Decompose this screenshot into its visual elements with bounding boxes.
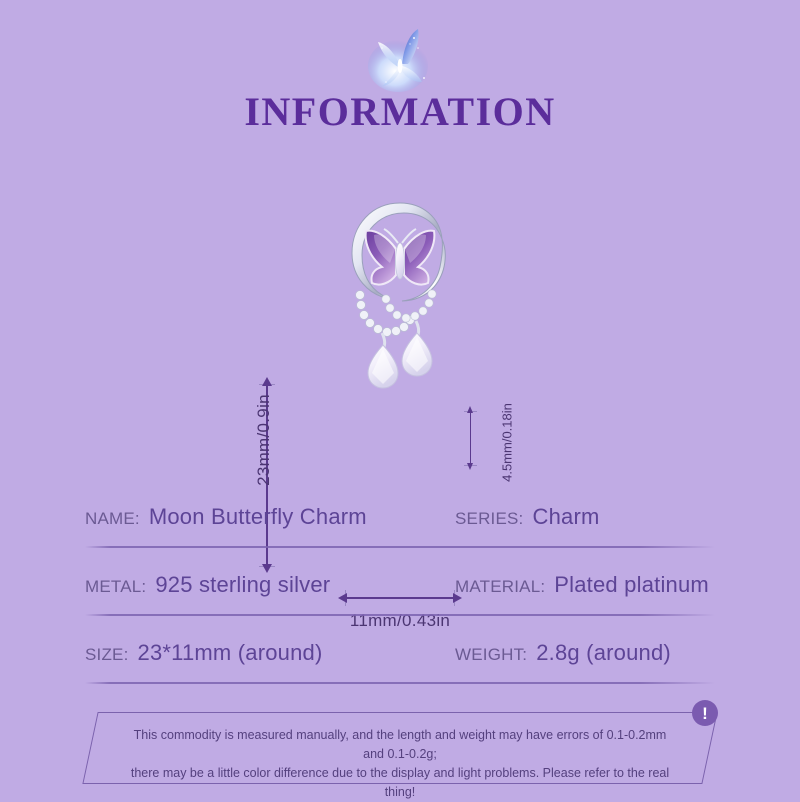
height-dimension-label: 23mm/0.9in	[254, 390, 274, 490]
spec-label: SERIES:	[455, 509, 523, 529]
information-page: INFORMATION	[0, 0, 800, 800]
specification-table: NAME: Moon Butterfly Charm SERIES: Charm…	[0, 498, 800, 702]
table-row: NAME: Moon Butterfly Charm SERIES: Charm	[0, 498, 800, 566]
spec-weight: WEIGHT: 2.8g (around)	[455, 640, 671, 666]
row-divider	[85, 546, 715, 548]
spec-label: SIZE:	[85, 645, 129, 665]
product-illustration-area: 23mm/0.9in 11mm/0.43in 4.5mm/0.18in	[0, 180, 800, 470]
moon-butterfly-charm-illustration	[330, 195, 470, 410]
spec-metal: METAL: 925 sterling silver	[85, 572, 330, 598]
spec-series: SERIES: Charm	[455, 504, 600, 530]
spec-label: NAME:	[85, 509, 140, 529]
thickness-dimension-arrow	[470, 412, 471, 464]
spec-value: 2.8g (around)	[536, 640, 671, 666]
exclamation-icon: !	[692, 700, 718, 726]
spec-value: 23*11mm (around)	[138, 640, 323, 666]
disclaimer-line-2: there may be a little color difference d…	[128, 764, 672, 802]
spec-label: METAL:	[85, 577, 146, 597]
spec-value: Moon Butterfly Charm	[149, 504, 367, 530]
spec-label: WEIGHT:	[455, 645, 527, 665]
disclaimer-note: This commodity is measured manually, and…	[90, 712, 710, 784]
spec-value: 925 sterling silver	[155, 572, 330, 598]
table-row: METAL: 925 sterling silver MATERIAL: Pla…	[0, 566, 800, 634]
spec-material: MATERIAL: Plated platinum	[455, 572, 709, 598]
thickness-dimension-label: 4.5mm/0.18in	[500, 388, 515, 498]
page-title: INFORMATION	[0, 88, 800, 135]
spec-label: MATERIAL:	[455, 577, 545, 597]
row-divider	[85, 682, 715, 684]
table-row: SIZE: 23*11mm (around) WEIGHT: 2.8g (aro…	[0, 634, 800, 702]
disclaimer-text: This commodity is measured manually, and…	[128, 726, 672, 802]
spec-name: NAME: Moon Butterfly Charm	[85, 504, 367, 530]
spec-value: Charm	[532, 504, 599, 530]
row-divider	[85, 614, 715, 616]
exclamation-glyph: !	[702, 705, 708, 722]
spec-value: Plated platinum	[554, 572, 709, 598]
spec-size: SIZE: 23*11mm (around)	[85, 640, 323, 666]
disclaimer-line-1: This commodity is measured manually, and…	[128, 726, 672, 764]
